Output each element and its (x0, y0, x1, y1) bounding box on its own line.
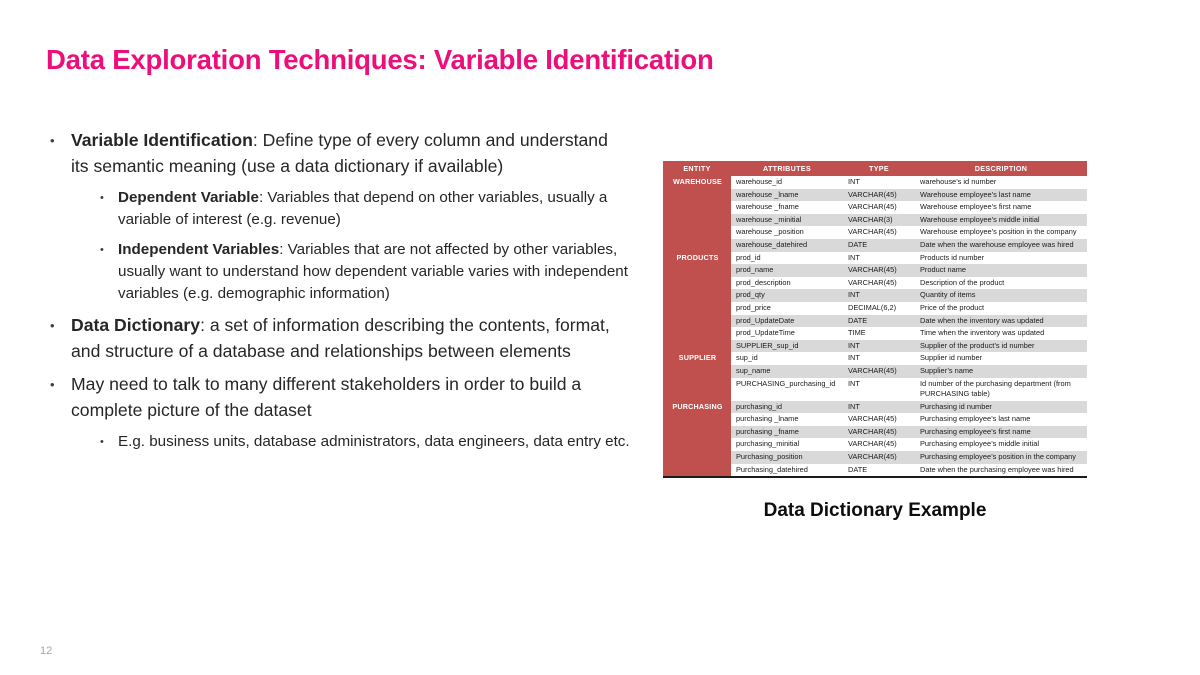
table-row: Purchasing_positionVARCHAR(45)Purchasing… (663, 451, 1087, 464)
cell-description: Id number of the purchasing department (… (915, 378, 1087, 401)
cell-type: VARCHAR(45) (843, 189, 915, 202)
bullet-item: •May need to talk to many different stak… (50, 372, 630, 423)
cell-description: Supplier id number (915, 352, 1087, 365)
table-row: prod_descriptionVARCHAR(45)Description o… (663, 277, 1087, 290)
cell-attribute: prod_UpdateDate (731, 315, 843, 328)
bullet-text: May need to talk to many different stake… (71, 372, 630, 423)
table-header-row: ENTITY ATTRIBUTES TYPE DESCRIPTION (663, 161, 1087, 176)
figure-caption: Data Dictionary Example (663, 500, 1087, 522)
cell-entity (663, 365, 731, 378)
bullet-item: •Dependent Variable: Variables that depe… (50, 187, 630, 231)
table-row: SUPPLIER_sup_idINTSupplier of the produc… (663, 340, 1087, 353)
table-row: prod_UpdateTimeTIMETime when the invento… (663, 327, 1087, 340)
column-header-attributes: ATTRIBUTES (731, 161, 843, 176)
cell-entity (663, 189, 731, 202)
bullet-marker-icon: • (50, 128, 71, 179)
bullet-item: •Variable Identification: Define type of… (50, 128, 630, 179)
table-row: warehouse _positionVARCHAR(45)Warehouse … (663, 226, 1087, 239)
table-row: warehouse _minitialVARCHAR(3)Warehouse e… (663, 214, 1087, 227)
cell-type: VARCHAR(45) (843, 451, 915, 464)
cell-attribute: sup_name (731, 365, 843, 378)
cell-type: VARCHAR(45) (843, 201, 915, 214)
column-header-type: TYPE (843, 161, 915, 176)
bullet-lead: Dependent Variable (118, 189, 259, 206)
cell-description: Purchasing id number (915, 401, 1087, 414)
table-row: purchasing _fnameVARCHAR(45)Purchasing e… (663, 426, 1087, 439)
table-header: ENTITY ATTRIBUTES TYPE DESCRIPTION (663, 161, 1087, 176)
cell-entity: PRODUCTS (663, 252, 731, 265)
cell-description: Description of the product (915, 277, 1087, 290)
cell-type: VARCHAR(45) (843, 365, 915, 378)
cell-entity (663, 201, 731, 214)
bullet-marker-icon: • (100, 239, 118, 305)
cell-attribute: purchasing_id (731, 401, 843, 414)
cell-type: DECIMAL(6,2) (843, 302, 915, 315)
column-header-entity: ENTITY (663, 161, 731, 176)
table-row: warehouse_datehiredDATEDate when the war… (663, 239, 1087, 252)
cell-attribute: Purchasing_position (731, 451, 843, 464)
bullet-marker-icon: • (100, 431, 118, 453)
cell-description: Product name (915, 264, 1087, 277)
cell-attribute: prod_price (731, 302, 843, 315)
cell-type: INT (843, 340, 915, 353)
bullet-item: •Data Dictionary: a set of information d… (50, 313, 630, 364)
cell-entity (663, 264, 731, 277)
cell-type: VARCHAR(45) (843, 277, 915, 290)
cell-attribute: sup_id (731, 352, 843, 365)
cell-description: warehouse’s id number (915, 176, 1087, 189)
bullet-lead: Data Dictionary (71, 315, 200, 335)
cell-entity: SUPPLIER (663, 352, 731, 365)
cell-attribute: purchasing _lname (731, 413, 843, 426)
cell-entity (663, 214, 731, 227)
cell-entity: WAREHOUSE (663, 176, 731, 189)
cell-type: VARCHAR(45) (843, 226, 915, 239)
cell-type: INT (843, 352, 915, 365)
table-row: SUPPLIERsup_idINTSupplier id number (663, 352, 1087, 365)
cell-type: TIME (843, 327, 915, 340)
table-row: purchasing _lnameVARCHAR(45)Purchasing e… (663, 413, 1087, 426)
cell-attribute: prod_name (731, 264, 843, 277)
cell-type: INT (843, 252, 915, 265)
cell-entity (663, 340, 731, 353)
table-row: prod_UpdateDateDATEDate when the invento… (663, 315, 1087, 328)
table-row: PRODUCTSprod_idINTProducts id number (663, 252, 1087, 265)
cell-type: VARCHAR(45) (843, 264, 915, 277)
cell-type: DATE (843, 315, 915, 328)
cell-type: INT (843, 401, 915, 414)
bullet-item: •E.g. business units, database administr… (50, 431, 630, 453)
cell-description: Time when the inventory was updated (915, 327, 1087, 340)
bullet-text: Independent Variables: Variables that ar… (118, 239, 630, 305)
bullet-text: Data Dictionary: a set of information de… (71, 313, 630, 364)
cell-description: Purchasing employee’s first name (915, 426, 1087, 439)
bullet-body: E.g. business units, database administra… (118, 433, 630, 450)
cell-description: Quantity of items (915, 289, 1087, 302)
cell-attribute: PURCHASING_purchasing_id (731, 378, 843, 401)
table-row: Purchasing_datehiredDATEDate when the pu… (663, 464, 1087, 478)
cell-type: VARCHAR(45) (843, 438, 915, 451)
column-header-description: DESCRIPTION (915, 161, 1087, 176)
table-row: purchasing_minitialVARCHAR(45)Purchasing… (663, 438, 1087, 451)
cell-entity (663, 413, 731, 426)
cell-type: VARCHAR(45) (843, 413, 915, 426)
bullet-lead: Independent Variables (118, 241, 279, 258)
bullet-marker-icon: • (100, 187, 118, 231)
cell-entity (663, 239, 731, 252)
cell-attribute: warehouse _lname (731, 189, 843, 202)
cell-description: Date when the warehouse employee was hir… (915, 239, 1087, 252)
cell-type: DATE (843, 464, 915, 478)
data-dictionary-table: ENTITY ATTRIBUTES TYPE DESCRIPTION WAREH… (663, 161, 1087, 478)
cell-description: Warehouse employee’s middle initial (915, 214, 1087, 227)
cell-type: DATE (843, 239, 915, 252)
bullet-body: May need to talk to many different stake… (71, 374, 581, 420)
cell-attribute: warehouse _fname (731, 201, 843, 214)
bullet-marker-icon: • (50, 372, 71, 423)
cell-entity (663, 327, 731, 340)
cell-attribute: warehouse _minitial (731, 214, 843, 227)
cell-description: Warehouse employee’s first name (915, 201, 1087, 214)
table-row: PURCHASINGpurchasing_idINTPurchasing id … (663, 401, 1087, 414)
table-row: prod_qtyINTQuantity of items (663, 289, 1087, 302)
cell-attribute: warehouse_id (731, 176, 843, 189)
cell-type: INT (843, 176, 915, 189)
bullet-list: •Variable Identification: Define type of… (50, 128, 630, 461)
cell-entity (663, 378, 731, 401)
cell-type: VARCHAR(45) (843, 426, 915, 439)
table-row: prod_nameVARCHAR(45)Product name (663, 264, 1087, 277)
table-row: PURCHASING_purchasing_idINTId number of … (663, 378, 1087, 401)
cell-description: Purchasing employee’s last name (915, 413, 1087, 426)
cell-attribute: SUPPLIER_sup_id (731, 340, 843, 353)
cell-description: Supplier’s name (915, 365, 1087, 378)
cell-entity (663, 426, 731, 439)
table-body: WAREHOUSEwarehouse_idINTwarehouse’s id n… (663, 176, 1087, 477)
cell-entity (663, 464, 731, 478)
page-title: Data Exploration Techniques: Variable Id… (46, 44, 714, 76)
cell-description: Price of the product (915, 302, 1087, 315)
cell-attribute: purchasing _fname (731, 426, 843, 439)
bullet-item: •Independent Variables: Variables that a… (50, 239, 630, 305)
table-row: warehouse _lnameVARCHAR(45)Warehouse emp… (663, 189, 1087, 202)
page-number: 12 (40, 645, 52, 657)
table-row: sup_nameVARCHAR(45)Supplier’s name (663, 365, 1087, 378)
bullet-text: E.g. business units, database administra… (118, 431, 630, 453)
bullet-text: Variable Identification: Define type of … (71, 128, 630, 179)
cell-entity (663, 315, 731, 328)
cell-entity (663, 438, 731, 451)
cell-attribute: prod_id (731, 252, 843, 265)
cell-attribute: prod_UpdateTime (731, 327, 843, 340)
cell-description: Date when the inventory was updated (915, 315, 1087, 328)
bullet-lead: Variable Identification (71, 130, 253, 150)
table-row: WAREHOUSEwarehouse_idINTwarehouse’s id n… (663, 176, 1087, 189)
bullet-text: Dependent Variable: Variables that depen… (118, 187, 630, 231)
cell-description: Warehouse employee’s position in the com… (915, 226, 1087, 239)
table-row: warehouse _fnameVARCHAR(45)Warehouse emp… (663, 201, 1087, 214)
cell-attribute: warehouse_datehired (731, 239, 843, 252)
cell-entity: PURCHASING (663, 401, 731, 414)
cell-attribute: purchasing_minitial (731, 438, 843, 451)
cell-description: Purchasing employee’s middle initial (915, 438, 1087, 451)
cell-attribute: prod_description (731, 277, 843, 290)
cell-entity (663, 277, 731, 290)
data-dictionary-figure: ENTITY ATTRIBUTES TYPE DESCRIPTION WAREH… (663, 161, 1087, 478)
cell-entity (663, 451, 731, 464)
table-row: prod_priceDECIMAL(6,2)Price of the produ… (663, 302, 1087, 315)
cell-description: Warehouse employee’s last name (915, 189, 1087, 202)
cell-attribute: Purchasing_datehired (731, 464, 843, 478)
cell-attribute: prod_qty (731, 289, 843, 302)
cell-description: Purchasing employee’s position in the co… (915, 451, 1087, 464)
cell-description: Supplier of the product’s id number (915, 340, 1087, 353)
cell-entity (663, 226, 731, 239)
cell-attribute: warehouse _position (731, 226, 843, 239)
cell-type: VARCHAR(3) (843, 214, 915, 227)
bullet-marker-icon: • (50, 313, 71, 364)
cell-description: Products id number (915, 252, 1087, 265)
cell-entity (663, 302, 731, 315)
cell-description: Date when the purchasing employee was hi… (915, 464, 1087, 478)
cell-entity (663, 289, 731, 302)
cell-type: INT (843, 378, 915, 401)
cell-type: INT (843, 289, 915, 302)
